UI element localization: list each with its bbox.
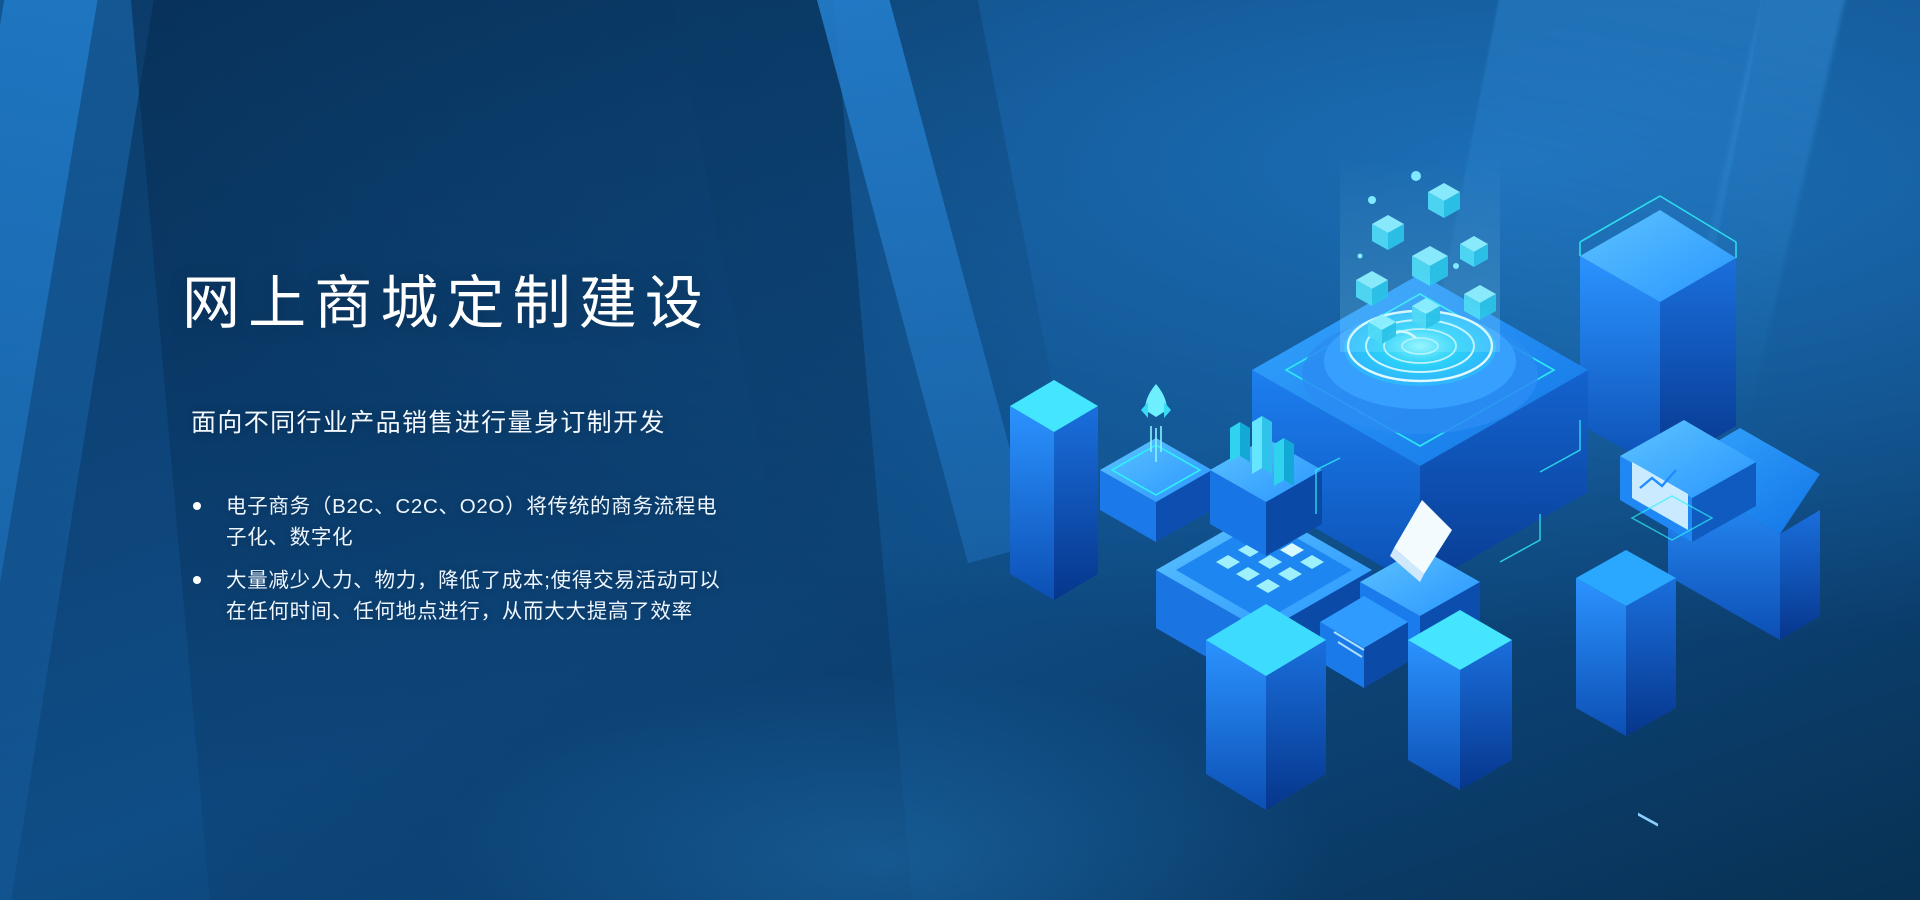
list-item: 大量减少人力、物力，降低了成本;使得交易活动可以在任何时间、任何地点进行，从而大…: [191, 565, 736, 627]
hero-banner: 网上商城定制建设 面向不同行业产品销售进行量身订制开发 电子商务（B2C、C2C…: [0, 0, 1920, 900]
bullet-dot-icon: [193, 502, 201, 510]
bullet-text: 大量减少人力、物力，降低了成本;使得交易活动可以在任何时间、任何地点进行，从而大…: [226, 569, 720, 623]
feature-bullet-list: 电子商务（B2C、C2C、O2O）将传统的商务流程电子化、数字化 大量减少人力、…: [191, 491, 942, 628]
rocket-pedestal: [1100, 384, 1212, 542]
hero-copy: 网上商城定制建设 面向不同行业产品销售进行量身订制开发 电子商务（B2C、C2C…: [182, 272, 942, 640]
isometric-illustration: [1020, 170, 1820, 850]
page-title: 网上商城定制建设: [182, 272, 942, 337]
page-subtitle: 面向不同行业产品销售进行量身订制开发: [191, 403, 942, 439]
bullet-dot-icon: [193, 576, 201, 584]
list-item: 电子商务（B2C、C2C、O2O）将传统的商务流程电子化、数字化: [191, 491, 736, 553]
floating-cubes: [1340, 156, 1500, 352]
bullet-text: 电子商务（B2C、C2C、O2O）将传统的商务流程电子化、数字化: [226, 495, 717, 549]
